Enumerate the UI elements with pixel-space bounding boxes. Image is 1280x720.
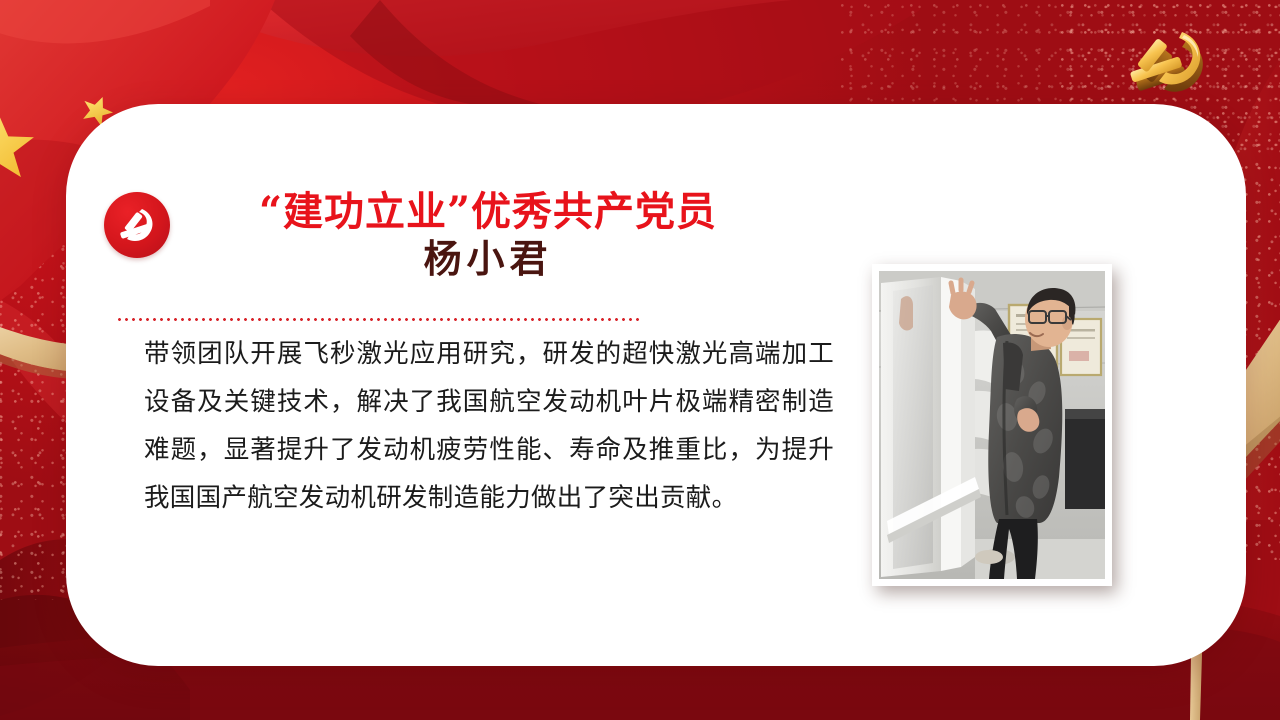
dotted-divider	[116, 318, 642, 321]
title-block: “建功立业”优秀共产党员 杨小君	[208, 188, 768, 284]
honoree-photo-frame	[872, 264, 1112, 586]
content-card: “建功立业”优秀共产党员 杨小君 带领团队开展飞秒激光应用研究，研发的超快激光高…	[66, 104, 1246, 666]
gold-hammer-sickle-emblem-icon	[1122, 26, 1218, 106]
slide-root: “建功立业”优秀共产党员 杨小君 带领团队开展飞秒激光应用研究，研发的超快激光高…	[0, 0, 1280, 720]
page-title: “建功立业”优秀共产党员	[208, 188, 768, 235]
honoree-name: 杨小君	[208, 235, 768, 284]
description-paragraph: 带领团队开展飞秒激光应用研究，研发的超快激光高端加工设备及关键技术，解决了我国航…	[144, 330, 834, 522]
header-block: “建功立业”优秀共产党员 杨小君	[104, 188, 804, 284]
honoree-photo	[879, 271, 1105, 579]
party-hammer-sickle-icon	[104, 192, 170, 258]
